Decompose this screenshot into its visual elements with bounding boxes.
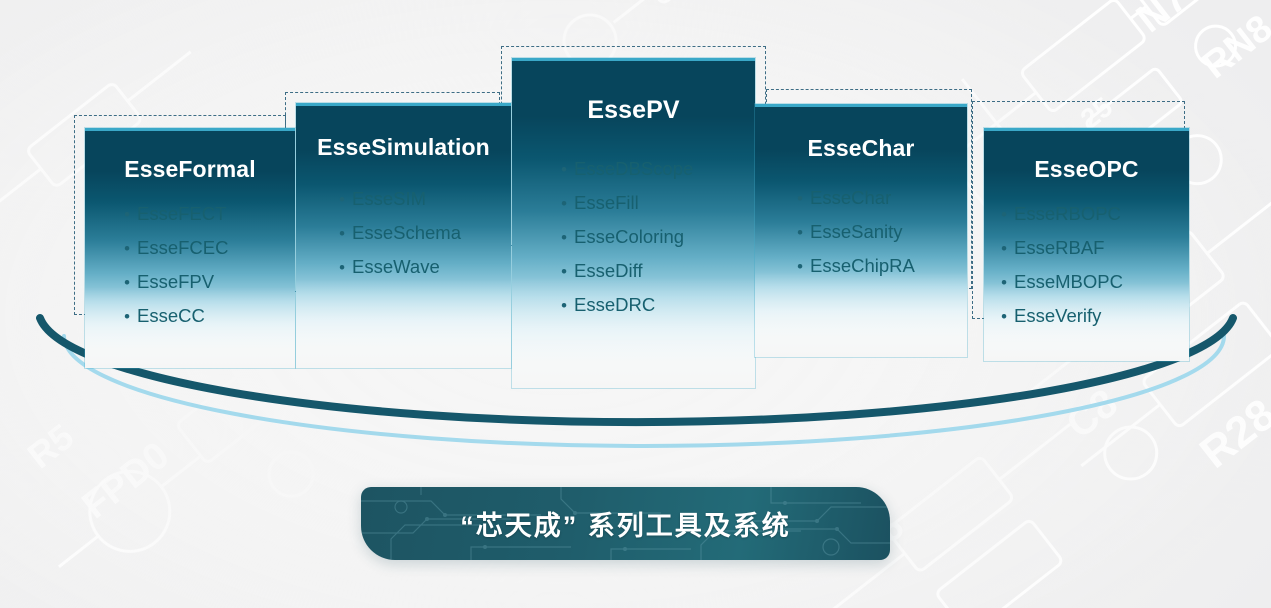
- bullet-icon: •: [117, 273, 137, 293]
- list-item[interactable]: •EsseSanity: [790, 221, 967, 243]
- list-item-label: EsseDiff: [574, 260, 643, 282]
- card-essesimulation[interactable]: EsseSimulation •EsseSIM •EsseSchema •Ess…: [296, 103, 511, 368]
- list-item[interactable]: •EsseRBAF: [994, 237, 1189, 259]
- list-item-label: EsseSIM: [352, 188, 426, 210]
- list-item-label: EsseSanity: [810, 221, 903, 243]
- list-item[interactable]: •EsseChar: [790, 187, 967, 209]
- svg-text:FPD0: FPD0: [75, 434, 177, 527]
- list-item[interactable]: •EsseWave: [332, 256, 511, 278]
- card-esseformal-list: •EsseFECT •EsseFCEC •EsseFPV •EsseCC: [85, 203, 295, 327]
- list-item[interactable]: •EsseVerify: [994, 305, 1189, 327]
- card-esseformal-title: EsseFormal: [85, 156, 295, 183]
- card-essechar-list: •EsseChar •EsseSanity •EsseChipRA: [755, 187, 967, 277]
- list-item[interactable]: •EsseFECT: [117, 203, 295, 225]
- list-item[interactable]: •EsseCC: [117, 305, 295, 327]
- bullet-icon: •: [994, 205, 1014, 225]
- svg-text:C8: C8: [1058, 381, 1125, 447]
- list-item-label: EsseChipRA: [810, 255, 915, 277]
- bullet-icon: •: [994, 273, 1014, 293]
- bullet-icon: •: [790, 223, 810, 243]
- card-essechar-content: EsseChar •EsseChar •EsseSanity •EsseChip…: [755, 135, 967, 385]
- svg-text:RN8: RN8: [1195, 7, 1271, 87]
- card-esseopc-title: EsseOPC: [984, 156, 1189, 183]
- bullet-icon: •: [994, 239, 1014, 259]
- list-item[interactable]: •EsseRBOPC: [994, 203, 1189, 225]
- card-esseformal[interactable]: EsseFormal •EsseFECT •EsseFCEC •EsseFPV …: [85, 128, 295, 368]
- banner-title: “芯天成” 系列工具及系统: [361, 487, 890, 560]
- bullet-icon: •: [554, 296, 574, 316]
- list-item-label: EsseWave: [352, 256, 440, 278]
- bullet-icon: •: [554, 194, 574, 214]
- bullet-icon: •: [554, 262, 574, 282]
- card-essepv-list: •EsseDBScope •EsseFill •EsseColoring •Es…: [512, 158, 755, 316]
- card-essepv[interactable]: EssePV •EsseDBScope •EsseFill •EsseColor…: [512, 58, 755, 388]
- list-item-label: EsseMBOPC: [1014, 271, 1123, 293]
- list-item-label: EsseColoring: [574, 226, 684, 248]
- list-item-label: EsseRBAF: [1014, 237, 1104, 259]
- list-item-label: EsseFPV: [137, 271, 214, 293]
- list-item[interactable]: •EsseFPV: [117, 271, 295, 293]
- list-item-label: EsseFECT: [137, 203, 226, 225]
- card-esseopc-content: EsseOPC •EsseRBOPC •EsseRBAF •EsseMBOPC …: [984, 156, 1189, 386]
- list-item[interactable]: •EsseDBScope: [554, 158, 755, 180]
- list-item[interactable]: •EsseChipRA: [790, 255, 967, 277]
- card-esseopc[interactable]: EsseOPC •EsseRBOPC •EsseRBAF •EsseMBOPC …: [984, 128, 1189, 361]
- list-item-label: EsseRBOPC: [1014, 203, 1121, 225]
- card-esseopc-list: •EsseRBOPC •EsseRBAF •EsseMBOPC •EsseVer…: [984, 203, 1189, 327]
- card-essepv-content: EssePV •EsseDBScope •EsseFill •EsseColor…: [512, 96, 755, 423]
- list-item[interactable]: •EsseDRC: [554, 294, 755, 316]
- bottom-banner[interactable]: “芯天成” 系列工具及系统: [361, 487, 890, 560]
- bullet-icon: •: [117, 239, 137, 259]
- bullet-icon: •: [790, 257, 810, 277]
- list-item-label: EsseCC: [137, 305, 205, 327]
- card-essesimulation-list: •EsseSIM •EsseSchema •EsseWave: [296, 188, 511, 278]
- list-item-label: EsseDRC: [574, 294, 655, 316]
- bullet-icon: •: [554, 160, 574, 180]
- bullet-icon: •: [790, 189, 810, 209]
- bullet-icon: •: [332, 190, 352, 210]
- list-item[interactable]: •EsseFill: [554, 192, 755, 214]
- card-essepv-title: EssePV: [512, 96, 755, 125]
- list-item[interactable]: •EsseColoring: [554, 226, 755, 248]
- list-item-label: EsseVerify: [1014, 305, 1101, 327]
- list-item-label: EsseSchema: [352, 222, 461, 244]
- svg-text:R28: R28: [1191, 390, 1271, 478]
- list-item[interactable]: •EsseMBOPC: [994, 271, 1189, 293]
- list-item[interactable]: •EsseFCEC: [117, 237, 295, 259]
- infographic-stage: N7 RN8 R28 C8 FPD0 R5 C6 C5 R14 25 EsseF…: [0, 0, 1271, 608]
- card-essechar-title: EsseChar: [755, 135, 967, 162]
- bullet-icon: •: [117, 205, 137, 225]
- list-item[interactable]: •EsseSchema: [332, 222, 511, 244]
- card-essechar[interactable]: EsseChar •EsseChar •EsseSanity •EsseChip…: [755, 104, 967, 357]
- svg-text:R5: R5: [20, 416, 82, 477]
- card-essesimulation-content: EsseSimulation •EsseSIM •EsseSchema •Ess…: [296, 134, 511, 396]
- bullet-icon: •: [554, 228, 574, 248]
- list-item-label: EsseFCEC: [137, 237, 229, 259]
- list-item-label: EsseFill: [574, 192, 639, 214]
- card-essesimulation-title: EsseSimulation: [296, 134, 511, 161]
- bullet-icon: •: [994, 307, 1014, 327]
- bullet-icon: •: [332, 258, 352, 278]
- list-item[interactable]: •EsseSIM: [332, 188, 511, 210]
- bullet-icon: •: [332, 224, 352, 244]
- bullet-icon: •: [117, 307, 137, 327]
- list-item-label: EsseDBScope: [574, 158, 693, 180]
- svg-text:N7: N7: [1128, 0, 1195, 41]
- list-item-label: EsseChar: [810, 187, 891, 209]
- list-item[interactable]: •EsseDiff: [554, 260, 755, 282]
- card-esseformal-content: EsseFormal •EsseFECT •EsseFCEC •EsseFPV …: [85, 156, 295, 393]
